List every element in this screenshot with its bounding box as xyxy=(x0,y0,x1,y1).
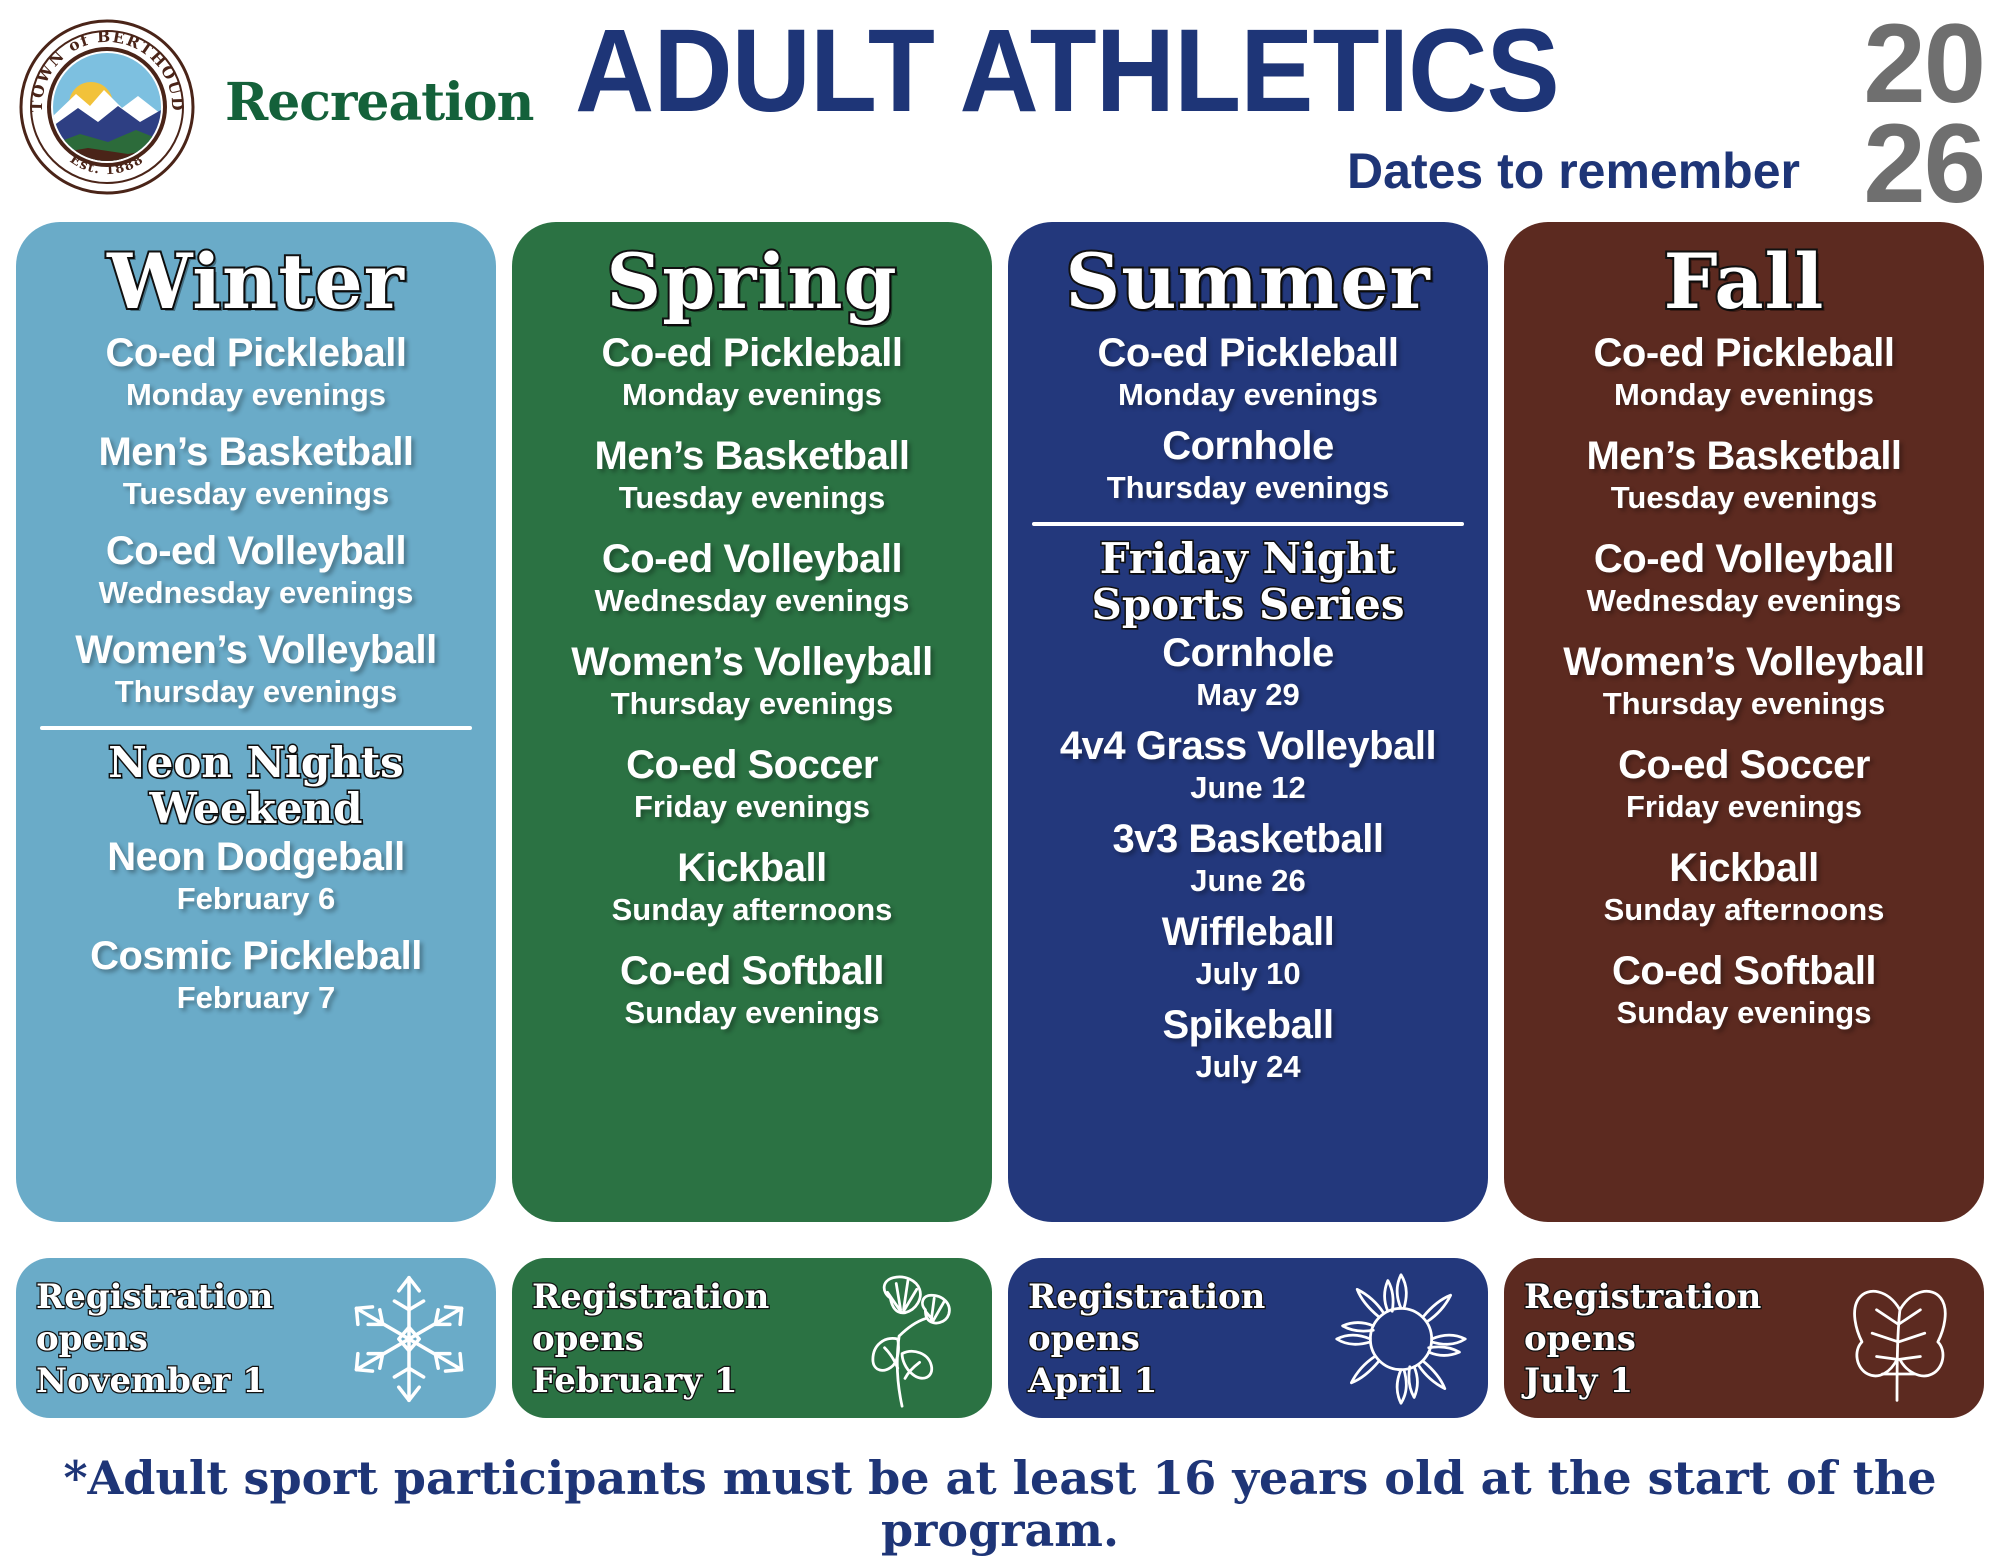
sport-schedule: July 10 xyxy=(1022,955,1474,992)
sun-icon xyxy=(1328,1266,1474,1412)
sport-schedule: Friday evenings xyxy=(526,788,978,825)
sport-entry: WiffleballJuly 10 xyxy=(1022,909,1474,992)
sport-schedule: Friday evenings xyxy=(1518,788,1970,825)
sport-entry: Co-ed VolleyballWednesday evenings xyxy=(1518,536,1970,619)
sport-schedule: Monday evenings xyxy=(1022,376,1474,413)
sport-entry: Men’s BasketballTuesday evenings xyxy=(1518,433,1970,516)
sport-schedule: February 7 xyxy=(30,979,482,1016)
sport-entry: Co-ed SoccerFriday evenings xyxy=(1518,742,1970,825)
sport-entry: 3v3 BasketballJune 26 xyxy=(1022,816,1474,899)
sport-schedule: Tuesday evenings xyxy=(526,479,978,516)
sport-schedule: Monday evenings xyxy=(30,376,482,413)
sport-name: Women’s Volleyball xyxy=(1518,639,1970,685)
sport-entry: CornholeMay 29 xyxy=(1022,630,1474,713)
sport-schedule: May 29 xyxy=(1022,676,1474,713)
sport-schedule: Thursday evenings xyxy=(526,685,978,722)
sport-name: Co-ed Volleyball xyxy=(1518,536,1970,582)
sport-entry: KickballSunday afternoons xyxy=(1518,845,1970,928)
registration-bar-summer: Registration opensApril 1 xyxy=(1008,1258,1488,1418)
sport-entry: Women’s VolleyballThursday evenings xyxy=(1518,639,1970,722)
snowflake-icon xyxy=(336,1266,482,1412)
sport-name: Co-ed Volleyball xyxy=(30,528,482,574)
sport-name: Cosmic Pickleball xyxy=(30,933,482,979)
sport-name: Co-ed Pickleball xyxy=(1022,330,1474,376)
sport-schedule: June 26 xyxy=(1022,862,1474,899)
footnote-age-requirement: *Adult sport participants must be at lea… xyxy=(0,1452,2000,1556)
sport-name: Co-ed Pickleball xyxy=(526,330,978,376)
sport-name: Spikeball xyxy=(1022,1002,1474,1048)
sport-entry: Neon DodgeballFebruary 6 xyxy=(30,834,482,917)
year-second-half: 26 xyxy=(1863,112,1984,216)
season-title-spring: Spring xyxy=(526,238,978,326)
sport-entry: Co-ed PickleballMonday evenings xyxy=(1518,330,1970,413)
registration-bar-winter: Registration opensNovember 1 xyxy=(16,1258,496,1418)
sport-schedule: Thursday evenings xyxy=(1022,469,1474,506)
town-of-berthoud-seal-logo: TOWN of BERTHOUD Est. 1888 xyxy=(18,18,196,196)
registration-label: Registration opens xyxy=(1028,1276,1328,1360)
sport-name: Cornhole xyxy=(1022,423,1474,469)
department-label: Recreation xyxy=(225,72,533,133)
registration-label: Registration opens xyxy=(36,1276,336,1360)
flower-icon xyxy=(832,1266,978,1412)
sport-name: 3v3 Basketball xyxy=(1022,816,1474,862)
sport-entry: KickballSunday afternoons xyxy=(526,845,978,928)
season-card-fall: FallCo-ed PickleballMonday eveningsMen’s… xyxy=(1504,222,1984,1222)
registration-text: Registration opensNovember 1 xyxy=(36,1276,336,1402)
sport-entry: Men’s BasketballTuesday evenings xyxy=(526,433,978,516)
sport-entry: Co-ed SoccerFriday evenings xyxy=(526,742,978,825)
sub-section-title: Friday Night Sports Series xyxy=(1022,536,1474,628)
sport-name: Co-ed Pickleball xyxy=(30,330,482,376)
registration-text: Registration opensFebruary 1 xyxy=(532,1276,832,1402)
sport-entry: Co-ed PickleballMonday evenings xyxy=(1022,330,1474,413)
sub-section-title: Neon Nights Weekend xyxy=(30,740,482,832)
sport-schedule: Monday evenings xyxy=(1518,376,1970,413)
sport-entry: Men’s BasketballTuesday evenings xyxy=(30,429,482,512)
registration-date: February 1 xyxy=(532,1360,832,1402)
sport-entry: Co-ed VolleyballWednesday evenings xyxy=(30,528,482,611)
season-card-summer: SummerCo-ed PickleballMonday eveningsCor… xyxy=(1008,222,1488,1222)
sport-schedule: Thursday evenings xyxy=(30,673,482,710)
season-card-winter: WinterCo-ed PickleballMonday eveningsMen… xyxy=(16,222,496,1222)
registration-date: July 1 xyxy=(1524,1360,1824,1402)
sport-name: 4v4 Grass Volleyball xyxy=(1022,723,1474,769)
sport-entry: Women’s VolleyballThursday evenings xyxy=(30,627,482,710)
sport-schedule: Tuesday evenings xyxy=(30,475,482,512)
page-subtitle: Dates to remember xyxy=(1347,144,1800,198)
sport-entry: Co-ed SoftballSunday evenings xyxy=(1518,948,1970,1031)
sport-name: Women’s Volleyball xyxy=(526,639,978,685)
sport-entry: Co-ed VolleyballWednesday evenings xyxy=(526,536,978,619)
registration-text: Registration opensJuly 1 xyxy=(1524,1276,1824,1402)
sport-name: Women’s Volleyball xyxy=(30,627,482,673)
sport-name: Co-ed Soccer xyxy=(526,742,978,788)
sport-schedule: Sunday afternoons xyxy=(526,891,978,928)
sport-schedule: Wednesday evenings xyxy=(1518,582,1970,619)
sport-name: Co-ed Pickleball xyxy=(1518,330,1970,376)
sport-schedule: June 12 xyxy=(1022,769,1474,806)
sport-entry: Co-ed PickleballMonday evenings xyxy=(30,330,482,413)
sport-name: Men’s Basketball xyxy=(30,429,482,475)
sport-name: Cornhole xyxy=(1022,630,1474,676)
registration-date: November 1 xyxy=(36,1360,336,1402)
page-title: ADULT ATHLETICS xyxy=(575,12,1559,130)
registration-label: Registration opens xyxy=(532,1276,832,1360)
sport-schedule: July 24 xyxy=(1022,1048,1474,1085)
registration-date: April 1 xyxy=(1028,1360,1328,1402)
sport-schedule: Monday evenings xyxy=(526,376,978,413)
sport-name: Co-ed Volleyball xyxy=(526,536,978,582)
sport-schedule: Thursday evenings xyxy=(1518,685,1970,722)
sport-name: Co-ed Softball xyxy=(1518,948,1970,994)
sport-entry: Women’s VolleyballThursday evenings xyxy=(526,639,978,722)
season-card-spring: SpringCo-ed PickleballMonday eveningsMen… xyxy=(512,222,992,1222)
registration-label: Registration opens xyxy=(1524,1276,1824,1360)
season-title-summer: Summer xyxy=(1022,238,1474,326)
section-divider xyxy=(1032,522,1464,526)
season-title-fall: Fall xyxy=(1518,238,1970,326)
sport-entry: Cosmic PickleballFebruary 7 xyxy=(30,933,482,1016)
leaf-icon xyxy=(1824,1266,1970,1412)
sport-entry: CornholeThursday evenings xyxy=(1022,423,1474,506)
sport-entry: 4v4 Grass VolleyballJune 12 xyxy=(1022,723,1474,806)
sport-schedule: Sunday afternoons xyxy=(1518,891,1970,928)
sport-entry: SpikeballJuly 24 xyxy=(1022,1002,1474,1085)
sport-schedule: Sunday evenings xyxy=(1518,994,1970,1031)
sport-entry: Co-ed PickleballMonday evenings xyxy=(526,330,978,413)
sport-name: Kickball xyxy=(1518,845,1970,891)
sport-schedule: Sunday evenings xyxy=(526,994,978,1031)
sport-schedule: Wednesday evenings xyxy=(30,574,482,611)
sport-schedule: February 6 xyxy=(30,880,482,917)
sport-name: Kickball xyxy=(526,845,978,891)
sport-name: Co-ed Softball xyxy=(526,948,978,994)
season-title-winter: Winter xyxy=(30,238,482,326)
sport-entry: Co-ed SoftballSunday evenings xyxy=(526,948,978,1031)
sport-name: Neon Dodgeball xyxy=(30,834,482,880)
sport-name: Men’s Basketball xyxy=(1518,433,1970,479)
sport-schedule: Tuesday evenings xyxy=(1518,479,1970,516)
sport-schedule: Wednesday evenings xyxy=(526,582,978,619)
registration-text: Registration opensApril 1 xyxy=(1028,1276,1328,1402)
sport-name: Wiffleball xyxy=(1022,909,1474,955)
sport-name: Men’s Basketball xyxy=(526,433,978,479)
sport-name: Co-ed Soccer xyxy=(1518,742,1970,788)
registration-bar-spring: Registration opensFebruary 1 xyxy=(512,1258,992,1418)
section-divider xyxy=(40,726,472,730)
page-header: TOWN of BERTHOUD Est. 1888 Recreation AD… xyxy=(0,0,2000,218)
registration-bar-fall: Registration opensJuly 1 xyxy=(1504,1258,1984,1418)
